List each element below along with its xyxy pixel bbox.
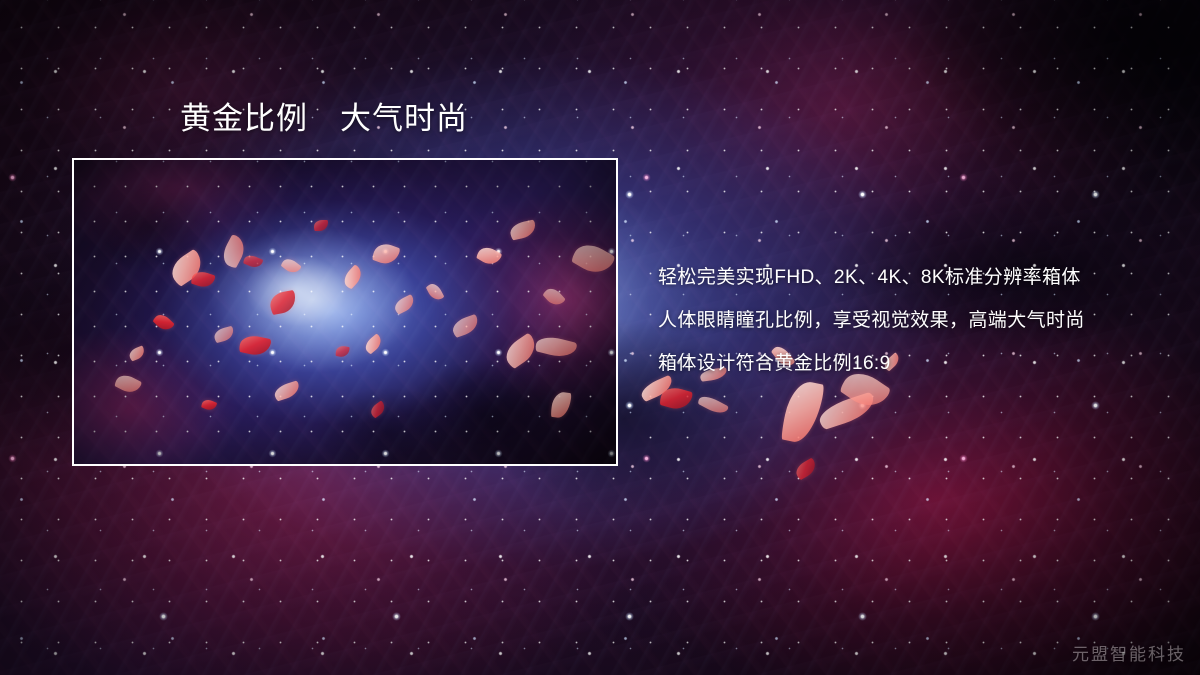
body-line: 轻松完美实现FHD、2K、4K、8K标准分辨率箱体 — [658, 256, 1178, 299]
rose-petal — [243, 253, 264, 270]
rose-petal — [793, 457, 819, 480]
rose-petal — [152, 311, 175, 334]
rose-petal — [268, 290, 297, 315]
framed-nebula-image[interactable] — [72, 158, 618, 466]
frame-starfield-fine — [74, 160, 616, 464]
frame-dust-lanes — [74, 160, 616, 464]
rose-petal — [550, 391, 571, 419]
slide-body-copy: 轻松完美实现FHD、2K、4K、8K标准分辨率箱体 人体眼睛瞳孔比例，享受视觉效… — [658, 256, 1178, 385]
rose-petal — [697, 393, 729, 418]
rose-petal — [780, 378, 825, 446]
slide-headline: 黄金比例 大气时尚 — [180, 100, 468, 139]
rose-petal — [659, 384, 694, 412]
rose-petal — [190, 269, 216, 290]
rose-petal — [509, 219, 538, 240]
rose-petal — [816, 392, 878, 431]
rose-petal — [335, 345, 350, 358]
rose-petal — [534, 333, 577, 360]
frame-filaments — [74, 160, 616, 464]
rose-petal — [368, 400, 387, 418]
frame-starfield-bright — [74, 160, 616, 464]
rose-petal — [371, 240, 400, 267]
rose-petal — [314, 220, 328, 231]
rose-petal — [213, 326, 236, 343]
rose-petal — [272, 380, 301, 401]
rose-petal — [542, 285, 566, 309]
frame-vignette — [74, 160, 616, 464]
company-watermark: 元盟智能科技 — [1072, 640, 1186, 665]
rose-petal — [114, 371, 143, 396]
rose-petal — [219, 234, 250, 269]
rose-petal — [570, 238, 616, 280]
rose-petal — [280, 256, 302, 277]
presentation-slide: 黄金比例 大气时尚 轻松完美实现FHD、2K、4K、8K标准分辨率箱体 人体眼睛… — [0, 0, 1200, 675]
rose-petal — [501, 332, 541, 369]
rose-petal — [238, 333, 271, 358]
rose-petal — [166, 249, 208, 288]
rose-petal — [450, 314, 481, 338]
body-line: 箱体设计符合黄金比例16:9 — [658, 342, 1178, 385]
rose-petal — [128, 345, 147, 361]
rose-petal — [425, 281, 444, 303]
body-line: 人体眼睛瞳孔比例，享受视觉效果，高端大气时尚 — [658, 299, 1178, 342]
frame-nebula-base — [74, 160, 616, 464]
rose-petal — [392, 294, 417, 315]
frame-core-glow — [74, 160, 616, 464]
rose-petal — [475, 244, 502, 269]
rose-petal — [362, 333, 384, 354]
rose-petal — [340, 264, 365, 290]
rose-petal — [201, 398, 218, 413]
